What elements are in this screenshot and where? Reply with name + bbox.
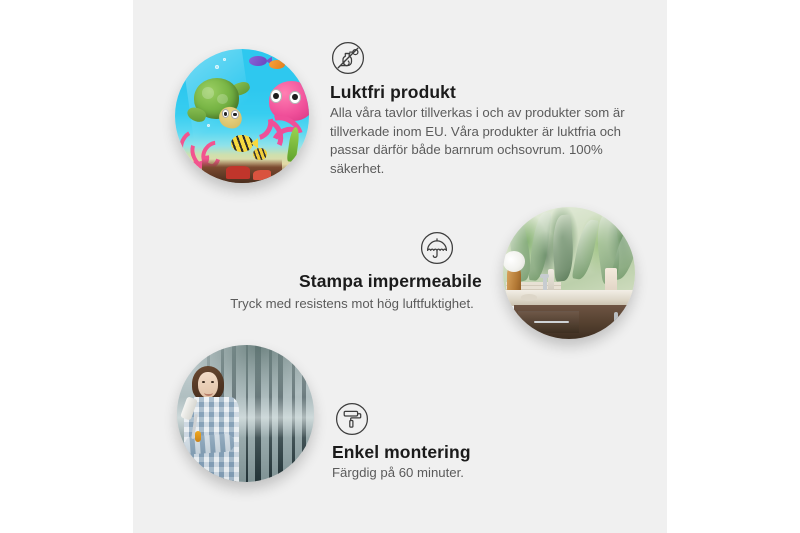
underwater-cartoon-aquarium-circle-image [175, 49, 309, 183]
white-flowers [503, 251, 525, 272]
woman-smile [204, 390, 214, 396]
feature-body-easy-install: Färgdig på 60 minuter. [332, 464, 532, 483]
vanity-drawer-handle [534, 321, 569, 322]
turtle-eye-right [231, 110, 238, 119]
vanity-door-handle [614, 312, 618, 330]
bathroom-tropical-wallpaper-circle-image [503, 207, 635, 339]
wooden-vanity [514, 305, 630, 339]
orange-fish [269, 60, 285, 69]
feature-title-easy-install: Enkel montering [332, 442, 471, 463]
paint-roller-grip [195, 431, 201, 442]
feature-title-odourless: Luktfri produkt [330, 82, 456, 103]
seabed-object-red-2 [253, 170, 272, 181]
soap-dish [521, 294, 537, 301]
feature-title-waterproof: Stampa impermeabile [299, 271, 482, 292]
woman-paint-roller-forest-circle-image [177, 345, 314, 482]
feature-body-odourless: Alla våra tavlor tillverkas i och av pro… [330, 104, 626, 179]
octopus-eye-right [289, 91, 301, 104]
octopus-eye-left [270, 89, 282, 102]
product-feature-infographic: Luktfri produkt Alla våra tavlor tillver… [0, 0, 800, 533]
seabed-object-red [226, 166, 250, 179]
umbrella-icon [419, 230, 455, 266]
paint-roller-icon [334, 401, 370, 437]
no-odour-spray-bottle-icon [330, 40, 366, 76]
yellow-striped-fish [231, 135, 252, 152]
bubble-2 [223, 58, 226, 61]
feature-body-waterproof: Tryck med resistens mot hög luftfuktighe… [222, 295, 482, 314]
